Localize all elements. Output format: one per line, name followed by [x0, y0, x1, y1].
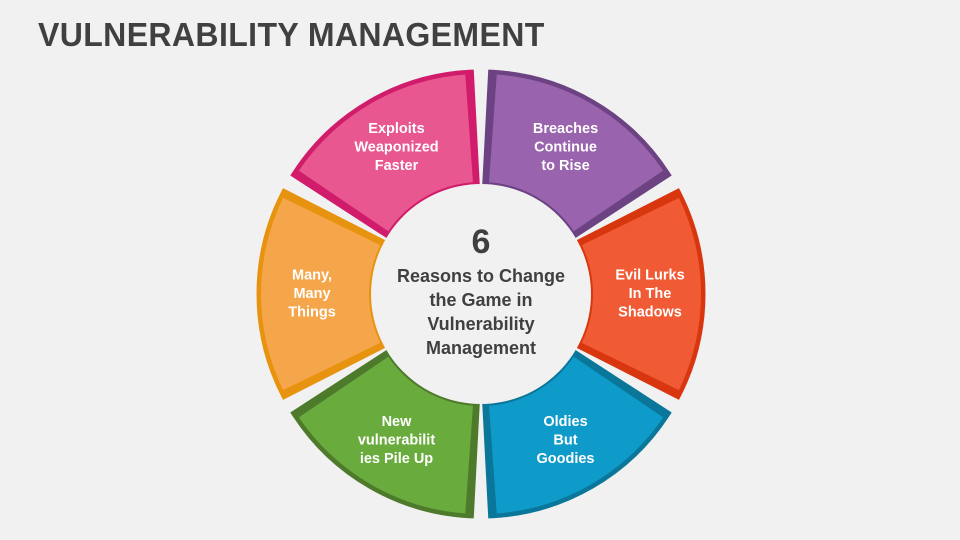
segment-label-line: Faster — [375, 158, 419, 174]
segment-label-line: Many — [293, 286, 330, 302]
hub-number: 6 — [472, 223, 491, 261]
segment-label-line: Many, — [292, 267, 332, 283]
segment-label-line: Evil Lurks — [615, 267, 684, 283]
segment-label-line: ies Pile Up — [360, 451, 433, 467]
segment-label-line: vulnerabilit — [358, 432, 436, 448]
donut-wheel-diagram: BreachesContinueto RiseEvil LurksIn TheS… — [0, 0, 960, 540]
segment-label-line: Oldies — [543, 414, 587, 430]
donut-center-hub: 6Reasons to Changethe Game inVulnerabili… — [371, 184, 591, 404]
segment-label-line: Exploits — [368, 121, 424, 137]
segment-label-line: Continue — [534, 139, 597, 155]
donut-segment-many-things[interactable]: Many,ManyThings — [261, 194, 381, 394]
hub-caption-line: Management — [426, 338, 536, 358]
segment-label-line: New — [382, 414, 413, 430]
segment-label-many-things: Many,ManyThings — [288, 267, 336, 320]
segment-label-line: Goodies — [536, 451, 594, 467]
segment-label-line: Breaches — [533, 121, 598, 137]
segment-label-line: Shadows — [618, 304, 682, 320]
segment-label-line: In The — [629, 286, 672, 302]
hub-caption-line: Vulnerability — [427, 314, 534, 334]
segment-label-line: But — [553, 432, 577, 448]
segment-label-breaches: BreachesContinueto Rise — [533, 121, 598, 174]
segment-label-line: Weaponized — [354, 139, 438, 155]
hub-caption-line: the Game in — [429, 290, 532, 310]
slide-canvas: VULNERABILITY MANAGEMENT BreachesContinu… — [0, 0, 960, 540]
donut-segment-evil-lurks[interactable]: Evil LurksIn TheShadows — [581, 194, 701, 394]
segment-label-line: to Rise — [541, 158, 589, 174]
hub-caption-line: Reasons to Change — [397, 266, 565, 286]
segment-label-line: Things — [288, 304, 336, 320]
